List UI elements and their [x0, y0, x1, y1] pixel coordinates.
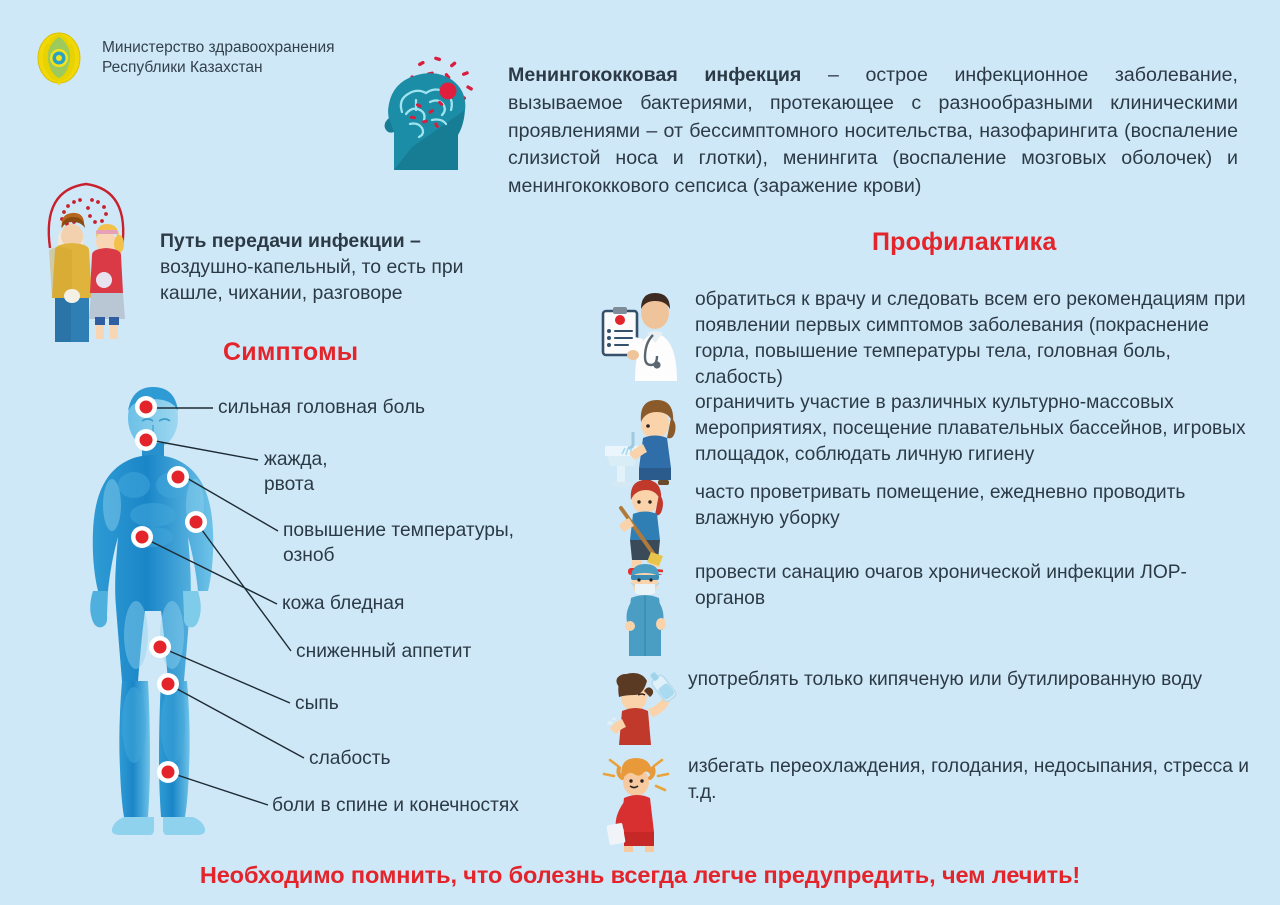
symptom-label-8: боли в спине и конечностях — [272, 794, 519, 819]
prevention-item-5: употреблять только кипяченую или бутилир… — [588, 665, 1260, 765]
symptom-label-6: сыпь — [295, 692, 339, 717]
doctor-with-clipboard-icon — [595, 285, 695, 385]
human-body-diagram — [46, 385, 261, 840]
ministry-line-2: Республики Казахстан — [102, 58, 335, 78]
prevention-text-2: ограничить участие в различных культурно… — [695, 388, 1255, 468]
ministry-header: Министерство здравоохранения Республики … — [34, 30, 335, 86]
disease-name: Менингококковая инфекция — [508, 64, 801, 86]
prevention-text-4: провести санацию очагов хронической инфе… — [695, 558, 1255, 612]
symptom-label-2: жажда, рвота — [264, 448, 328, 497]
ministry-name: Министерство здравоохранения Республики … — [102, 38, 335, 79]
symptom-label-1: сильная головная боль — [218, 396, 425, 421]
transmission-route-detail: воздушно-капельный, то есть при кашле, ч… — [160, 256, 463, 304]
prevention-item-2: ограничить участие в различных культурно… — [595, 388, 1260, 488]
stressed-person-icon — [588, 752, 688, 852]
child-washing-hands-icon — [595, 388, 695, 488]
kazakhstan-state-emblem-icon — [34, 30, 84, 86]
transmission-route-label: Путь передачи инфекции – — [160, 230, 421, 252]
prevention-item-6: избегать переохлаждения, голодания, недо… — [588, 752, 1260, 852]
symptom-label-7: слабость — [309, 747, 391, 772]
symptoms-section-title: Симптомы — [223, 338, 358, 367]
disease-definition: Менингококковая инфекция – острое инфекц… — [508, 62, 1238, 201]
head-with-brain-and-bacteria-icon — [372, 52, 498, 170]
prevention-text-3: часто проветривать помещение, ежедневно … — [695, 478, 1255, 532]
two-people-talking-icon — [22, 162, 150, 342]
transmission-route-text: Путь передачи инфекции – воздушно-капель… — [160, 228, 490, 306]
prevention-text-1: обратиться к врачу и следовать всем его … — [695, 285, 1255, 391]
symptom-label-4: кожа бледная — [282, 592, 404, 617]
infographic-poster: Министерство здравоохранения Республики … — [0, 0, 1280, 905]
prevention-text-6: избегать переохлаждения, голодания, недо… — [688, 752, 1255, 806]
ministry-line-1: Министерство здравоохранения — [102, 38, 335, 58]
prevention-section-title: Профилактика — [872, 228, 1056, 257]
symptom-label-3: повышение температуры, озноб — [283, 519, 514, 568]
prevention-text-5: употреблять только кипяченую или бутилир… — [688, 665, 1255, 693]
footer-slogan: Необходимо помнить, что болезнь всегда л… — [0, 862, 1280, 889]
prevention-item-4: провести санацию очагов хронической инфе… — [595, 558, 1260, 658]
medical-worker-mask-icon — [595, 558, 695, 658]
symptom-label-5: сниженный аппетит — [296, 640, 471, 665]
child-drinking-water-icon — [588, 665, 688, 765]
prevention-item-1: обратиться к врачу и следовать всем его … — [595, 285, 1260, 391]
